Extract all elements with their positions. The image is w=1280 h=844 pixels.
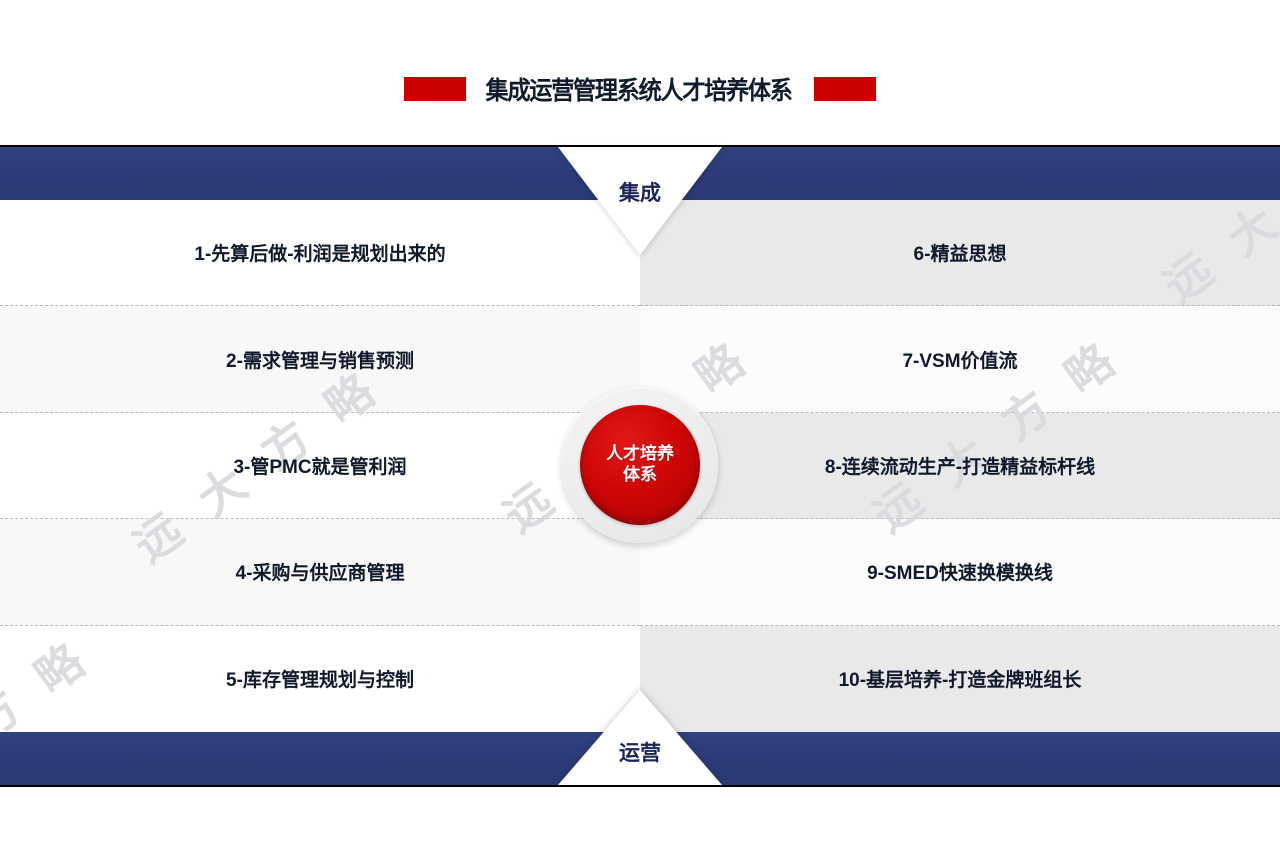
band-top-label: 集成 [558,177,722,207]
frame-bottom-rule [0,785,1280,787]
list-item-label: 9-SMED快速换模换线 [867,558,1053,585]
slide-title-row: 集成运营管理系统人才培养体系 [0,70,1280,108]
list-item-label: 6-精益思想 [914,239,1007,266]
list-item-label: 3-管PMC就是管利润 [233,452,406,479]
list-item-label: 5-库存管理规划与控制 [226,665,414,692]
slide-canvas: 集成运营管理系统人才培养体系 1-先算后做-利润是规划出来的 2-需求管理与销售… [0,0,1280,844]
page-title: 集成运营管理系统人才培养体系 [486,71,792,107]
center-hub[interactable]: 人才培养 体系 [562,387,718,543]
list-item-label: 7-VSM价值流 [902,346,1017,373]
list-item-label: 2-需求管理与销售预测 [226,346,414,373]
list-item[interactable]: 2-需求管理与销售预测 [0,306,640,412]
list-item-label: 1-先算后做-利润是规划出来的 [194,239,445,266]
list-item[interactable]: 1-先算后做-利润是规划出来的 [0,200,640,306]
center-hub-line2: 体系 [623,465,657,486]
list-item-label: 4-采购与供应商管理 [236,558,405,585]
column-right: 6-精益思想 7-VSM价值流 8-连续流动生产-打造精益标杆线 9-SMED快… [640,200,1280,732]
list-item[interactable]: 8-连续流动生产-打造精益标杆线 [640,413,1280,519]
list-item[interactable]: 5-库存管理规划与控制 [0,626,640,732]
list-item[interactable]: 10-基层培养-打造金牌班组长 [640,626,1280,732]
column-left: 1-先算后做-利润是规划出来的 2-需求管理与销售预测 3-管PMC就是管利润 … [0,200,640,732]
list-item-label: 10-基层培养-打造金牌班组长 [839,665,1082,692]
title-accent-bar-right [814,77,876,101]
title-accent-bar-left [404,77,466,101]
list-item[interactable]: 9-SMED快速换模换线 [640,519,1280,625]
list-item[interactable]: 3-管PMC就是管利润 [0,413,640,519]
list-item[interactable]: 7-VSM价值流 [640,306,1280,412]
band-bottom-label: 运营 [558,737,722,767]
list-item-label: 8-连续流动生产-打造精益标杆线 [825,452,1095,479]
list-item[interactable]: 4-采购与供应商管理 [0,519,640,625]
center-hub-line1: 人才培养 [606,444,674,465]
list-item[interactable]: 6-精益思想 [640,200,1280,306]
center-hub-disc: 人才培养 体系 [580,405,700,525]
